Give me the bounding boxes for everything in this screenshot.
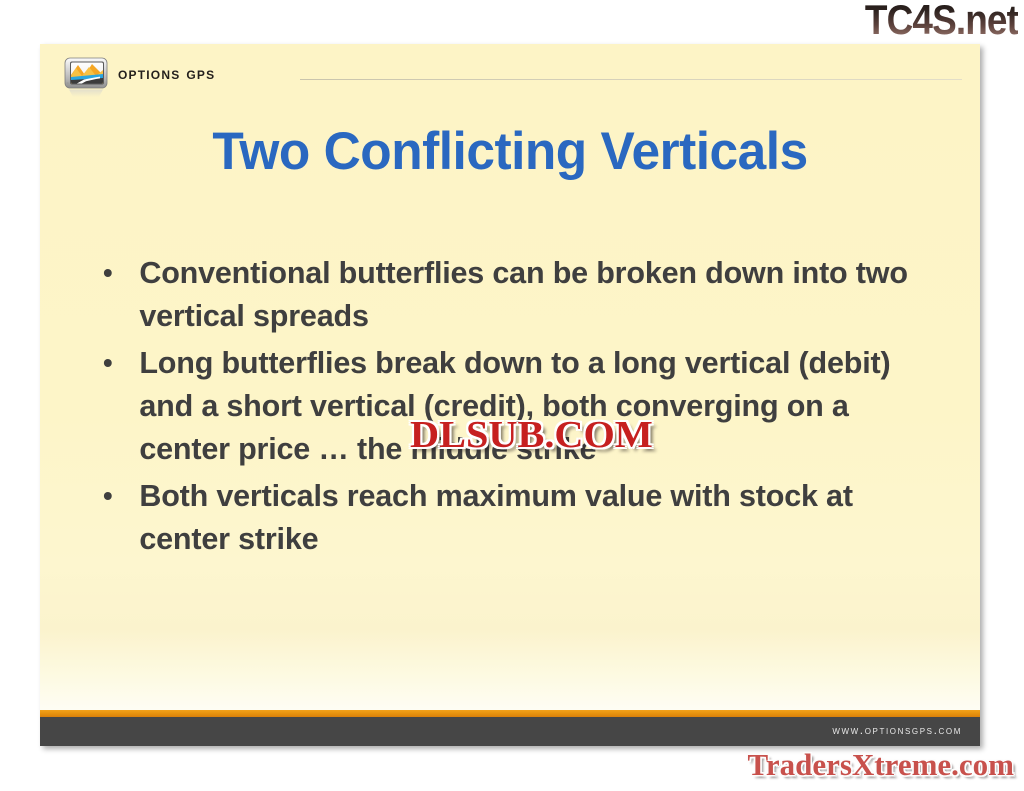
bullet-dot-icon [104, 269, 112, 277]
header-divider-rule [300, 79, 962, 80]
list-item-text: Both verticals reach maximum value with … [139, 474, 927, 560]
list-item: Both verticals reach maximum value with … [96, 474, 927, 560]
bullet-dot-icon [104, 492, 112, 500]
footer-accent-bar [40, 710, 980, 717]
gps-device-chart-icon [62, 53, 110, 101]
list-item-text: Conventional butterflies can be broken d… [139, 251, 927, 337]
bullet-list: Conventional butterflies can be broken d… [96, 251, 940, 564]
footer-url-label: www.OptionsGPS.com [832, 723, 962, 737]
bullet-dot-icon [104, 359, 112, 367]
dlsub-watermark: DLSUB.COM [410, 416, 653, 454]
tradersxtreme-watermark: TradersXtreme.com [747, 748, 1014, 781]
slide-content-area: Options GPS Two Conflicting Verticals Co… [40, 44, 980, 710]
slide-header: Options GPS [40, 44, 980, 106]
presentation-slide: Options GPS Two Conflicting Verticals Co… [40, 44, 980, 746]
tc4s-site-watermark: TC4S.net [865, 0, 1018, 42]
page-title: Two Conflicting Verticals [54, 122, 966, 182]
list-item: Conventional butterflies can be broken d… [96, 251, 927, 337]
brand-name-label: Options GPS [118, 64, 215, 84]
slide-footer: www.OptionsGPS.com [40, 717, 980, 746]
